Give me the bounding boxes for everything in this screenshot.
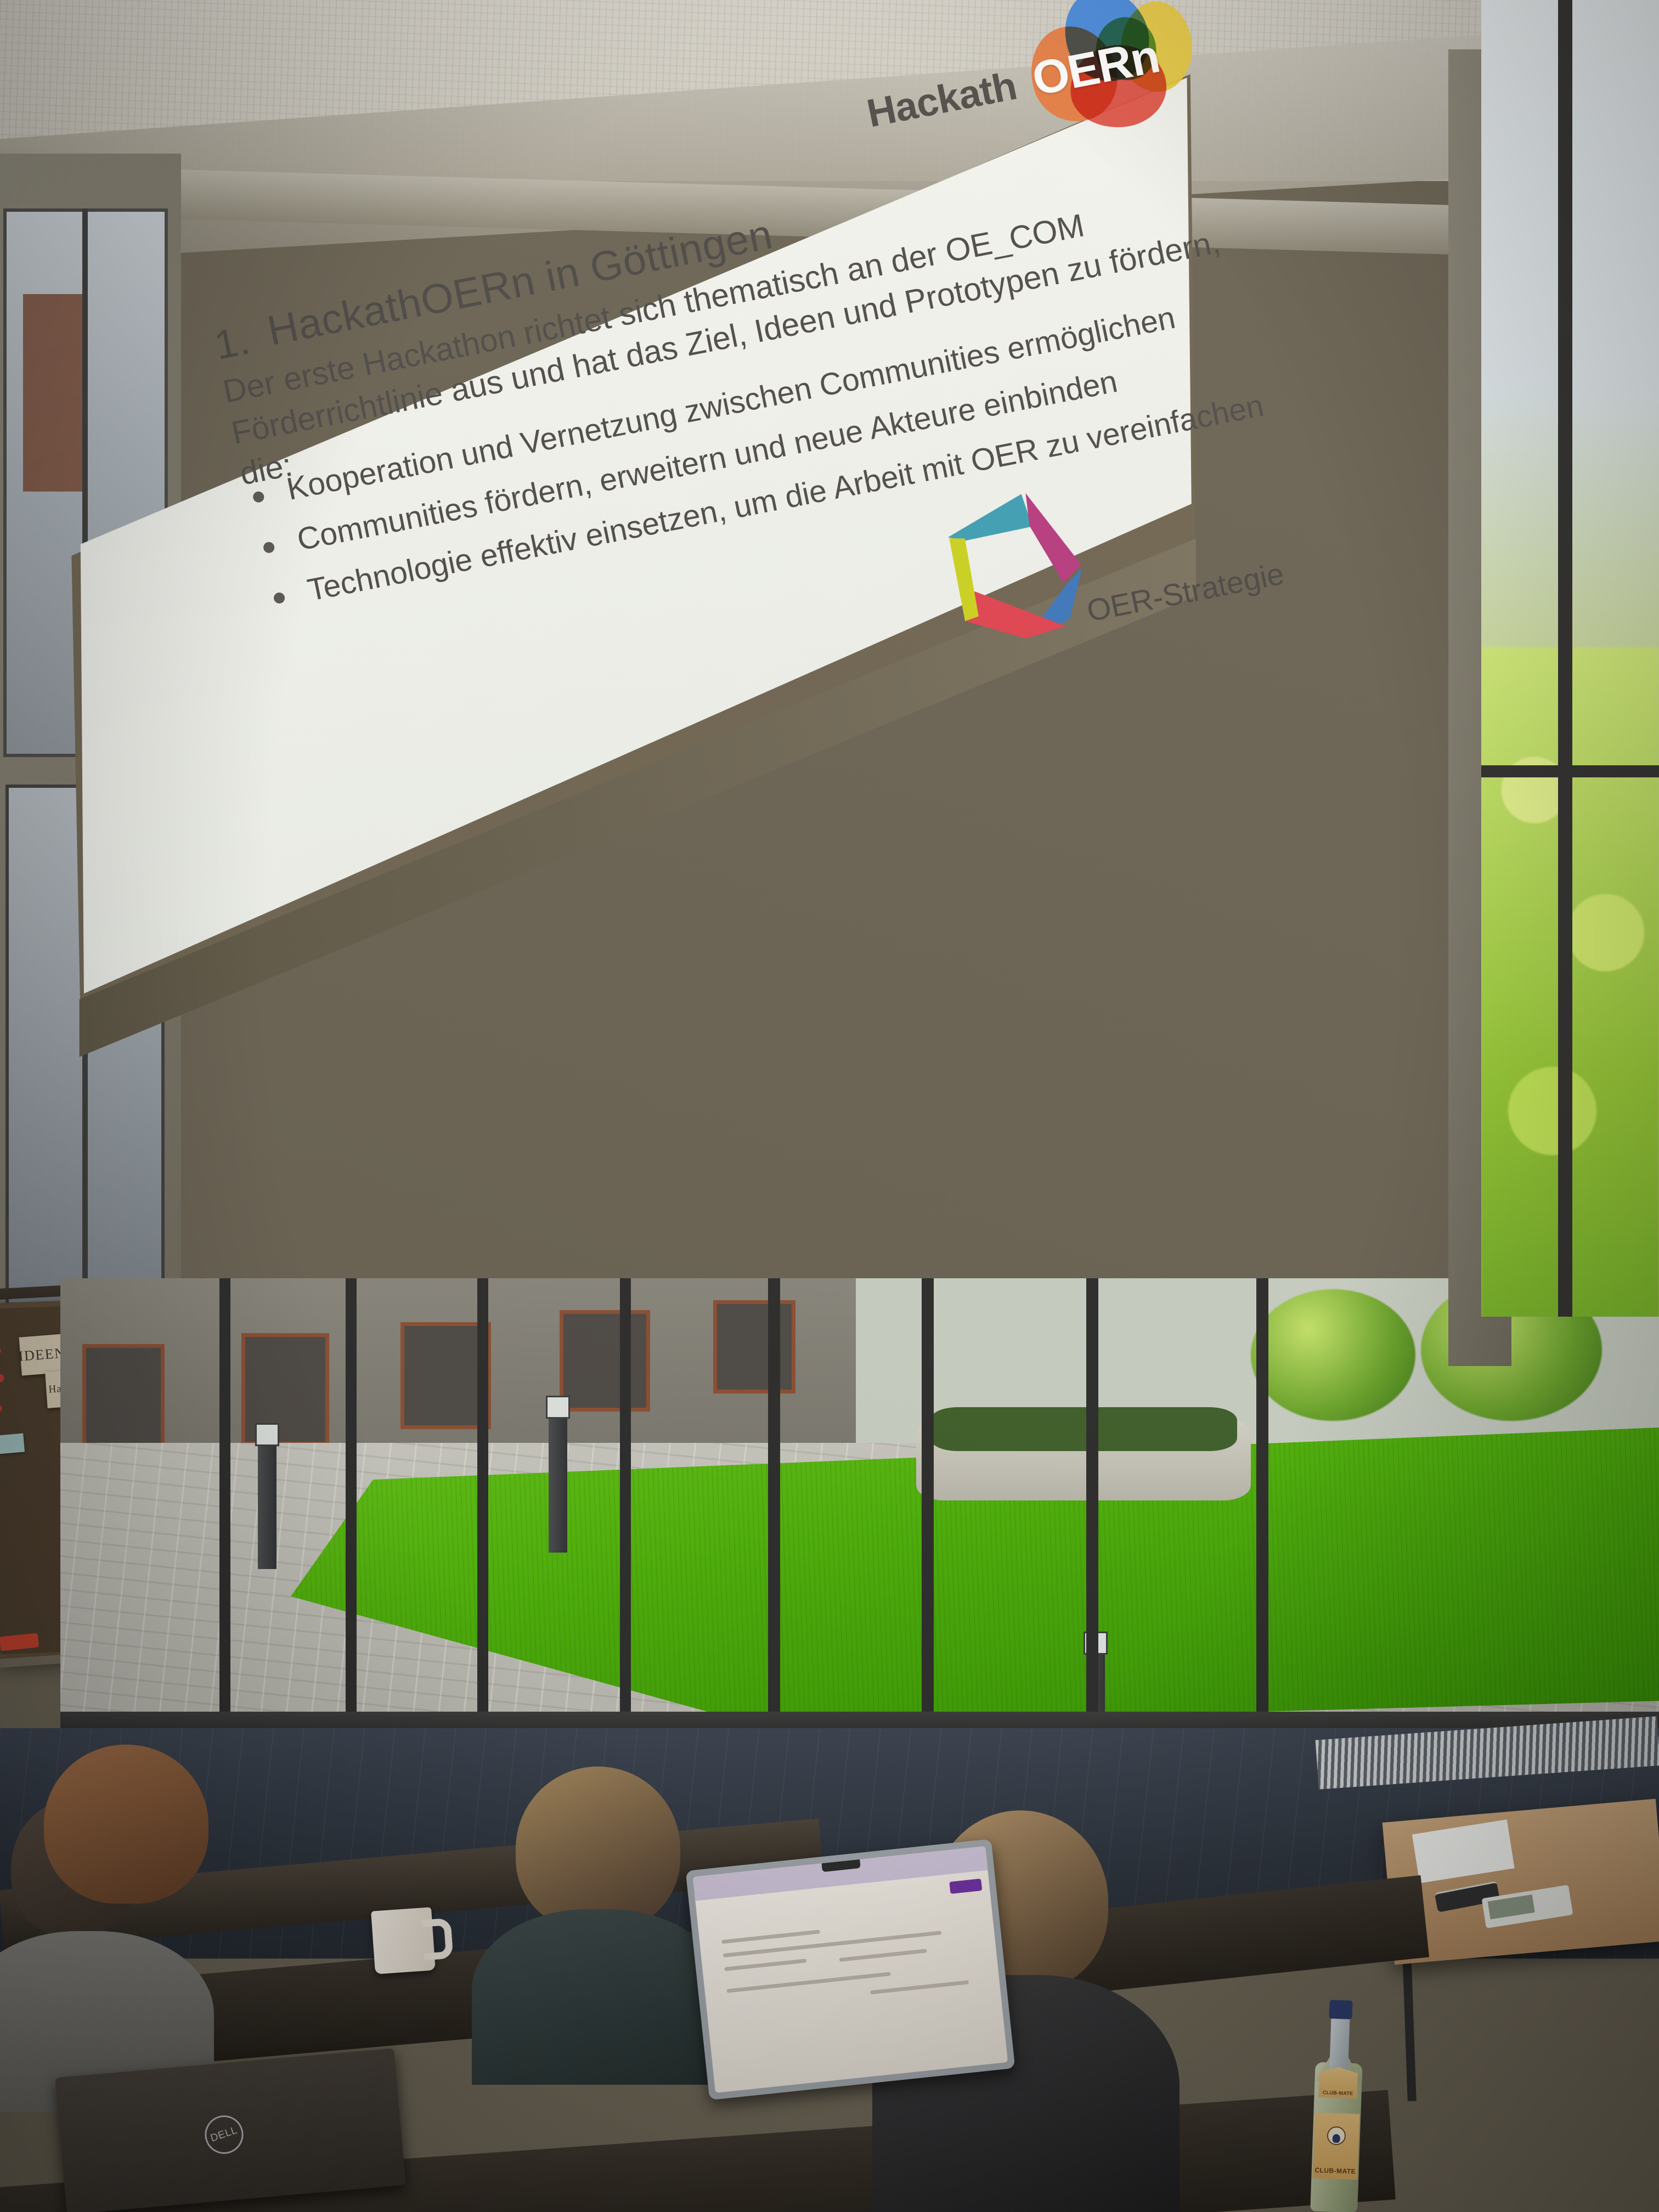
facade-window <box>560 1310 650 1412</box>
bollard-lamp-head <box>255 1423 279 1446</box>
planter-soil <box>930 1407 1237 1451</box>
window-mullion <box>620 1278 631 1745</box>
bullet-dot-icon <box>273 591 286 604</box>
control-panel-screen <box>1488 1894 1535 1919</box>
bullet-dot-icon <box>252 490 265 503</box>
dell-laptop-closed[interactable]: DELL <box>55 2048 405 2212</box>
sticky-note-blue <box>0 1433 25 1454</box>
facade-window <box>713 1300 795 1393</box>
bullet-dot-icon <box>262 541 275 554</box>
window-mullion <box>1558 0 1572 1317</box>
screen-text-line <box>724 1959 806 1971</box>
bottle-neck-label-text: CLUB-MATE <box>1323 2090 1353 2096</box>
slide-content: Hackath OERn 1. HackathOERn in Göttingen… <box>165 0 1383 923</box>
window-mullion <box>1256 1278 1268 1734</box>
right-window <box>1481 0 1659 1317</box>
window-mullion <box>346 1278 357 1734</box>
screen-text-line <box>870 1980 969 1995</box>
pin-marker <box>0 1347 1 1355</box>
screen-text-line <box>723 1940 854 1957</box>
window-mullion <box>477 1278 488 1739</box>
dell-logo: DELL <box>200 2111 249 2159</box>
laptop-lid <box>686 1839 1015 2100</box>
club-mate-bottle: CLUB-MATE CLUB-MATE <box>1310 1996 1365 2212</box>
audience-head-blond <box>516 1767 680 1931</box>
coffee-mug <box>371 1907 436 1974</box>
courtyard-tree <box>1251 1289 1415 1421</box>
window-mullion <box>219 1278 230 1728</box>
bollard-lamp-head <box>546 1396 570 1419</box>
bottle-main-label: CLUB-MATE <box>1312 2113 1359 2180</box>
screen-text-line <box>727 1972 891 1993</box>
facade-window <box>82 1344 165 1459</box>
window-mullion <box>922 1278 934 1750</box>
courtyard-view <box>60 1278 1659 1772</box>
window-mullion <box>768 1278 780 1750</box>
pin-marker <box>0 1374 4 1382</box>
bollard-light <box>258 1443 276 1569</box>
screen-text-line <box>838 1931 942 1945</box>
bottle-label-text: CLUB-MATE <box>1314 2166 1356 2176</box>
lecture-hall-photo: IDEENLABOR HackathOERn - Edition <box>0 0 1659 2212</box>
audience-shoulder <box>472 1909 724 2085</box>
audience-head-ginger <box>44 1745 208 1904</box>
desk-paper-sheet <box>1412 1819 1515 1883</box>
facade-window <box>241 1333 329 1446</box>
bollard-light <box>549 1415 567 1553</box>
oer-pentagon-icon <box>926 445 1140 657</box>
open-laptop[interactable] <box>686 1839 1015 2100</box>
screen-text-line <box>721 1929 820 1944</box>
projection-screen: Hackath OERn 1. HackathOERn in Göttingen… <box>66 60 1196 1212</box>
bottle-neck <box>1329 2015 1350 2075</box>
slide-number: 1. <box>211 317 254 369</box>
pin-marker <box>0 1404 2 1412</box>
bottle-cap <box>1329 2000 1352 2019</box>
screen-text-line <box>839 1949 927 1962</box>
laptop-screen[interactable] <box>693 1846 1008 2093</box>
window-transom <box>1481 765 1659 777</box>
logo-word-hackath: Hackath <box>863 64 1020 137</box>
screen-badge <box>949 1878 982 1894</box>
window-mullion <box>1086 1278 1098 1745</box>
